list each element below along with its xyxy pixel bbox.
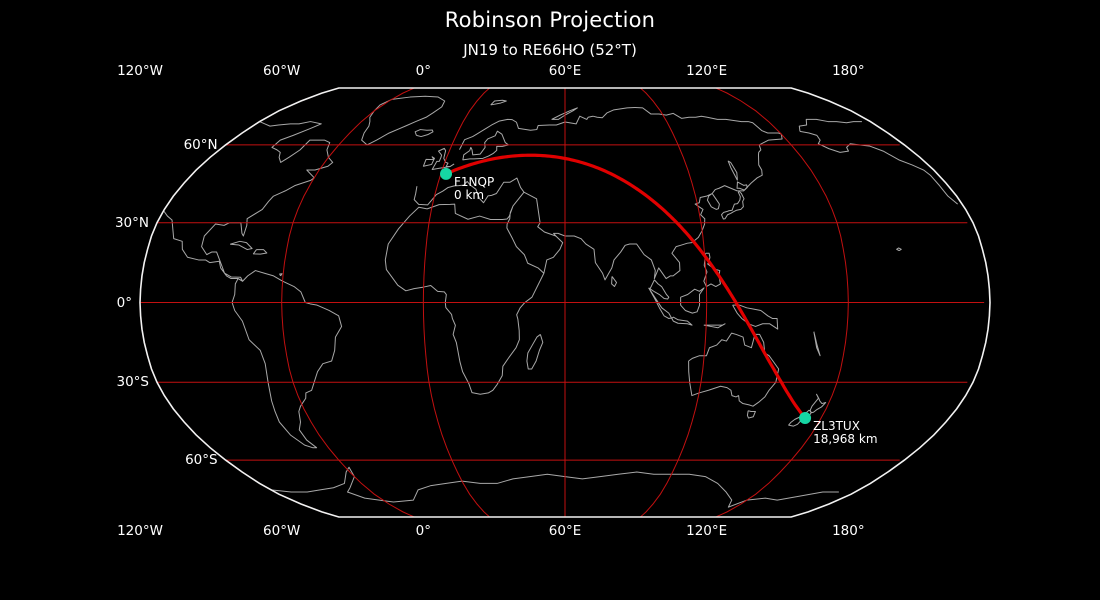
station-label-f1nqp: F1NQP0 km [454,176,494,202]
lat-tick-label-0: 60°N [0,137,218,153]
station-marker-zl3tux[interactable] [799,412,811,424]
map-window: Robinson Projection JN19 to RE66HO (52°T… [0,0,1100,600]
lon-tick-label-bottom-4: 180° [832,523,865,539]
station-label-zl3tux: ZL3TUX18,968 km [813,420,877,446]
lat-tick-label-4: 60°S [0,452,218,468]
lon-tick-label-bottom-0: 60°W [263,523,300,539]
lat-tick-label-2: 0° [0,295,132,311]
lat-tick-label-1: 30°N [0,215,149,231]
lon-tick-label-top-0: 60°W [263,63,300,79]
lon-tick-label-top-4: 180° [832,63,865,79]
station-callsign: F1NQP [454,175,494,189]
lon-tick-label-bottom-2: 60°E [549,523,581,539]
lon-tick-label-bottom-5: 120°W [117,523,163,539]
lon-tick-label-bottom-3: 120°E [686,523,727,539]
robinson-map[interactable] [0,0,1100,600]
lon-tick-label-top-1: 0° [416,63,431,79]
station-distance: 18,968 km [813,433,877,446]
station-distance: 0 km [454,189,494,202]
lon-tick-label-top-5: 120°W [117,63,163,79]
station-marker-f1nqp[interactable] [440,168,452,180]
lon-tick-label-top-2: 60°E [549,63,581,79]
lat-tick-label-3: 30°S [0,374,149,390]
lon-tick-label-top-3: 120°E [686,63,727,79]
station-callsign: ZL3TUX [813,419,860,433]
lon-tick-label-bottom-1: 0° [416,523,431,539]
